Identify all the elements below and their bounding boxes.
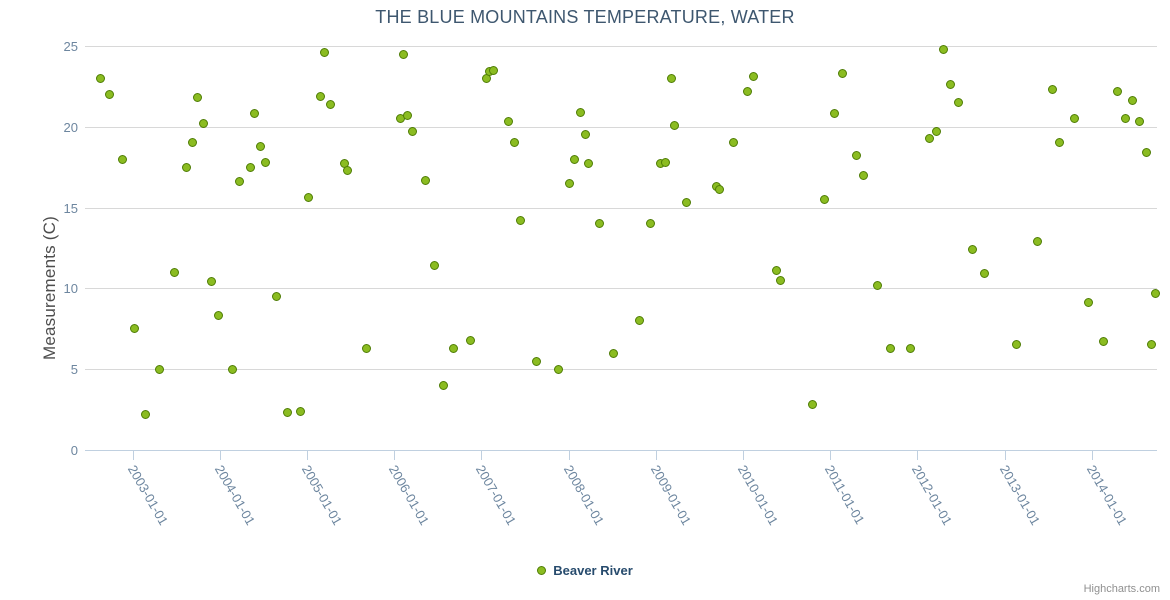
data-point[interactable] [646, 219, 655, 228]
data-point[interactable] [946, 80, 955, 89]
data-point[interactable] [954, 98, 963, 107]
data-point[interactable] [820, 195, 829, 204]
data-point[interactable] [296, 407, 305, 416]
data-point[interactable] [1128, 96, 1137, 105]
data-point[interactable] [1147, 340, 1156, 349]
data-point[interactable] [421, 176, 430, 185]
data-point[interactable] [886, 344, 895, 353]
data-point[interactable] [439, 381, 448, 390]
data-point[interactable] [155, 365, 164, 374]
x-tick-label-2008-01-01: 2008-01-01 [561, 463, 606, 527]
data-point[interactable] [1084, 298, 1093, 307]
data-point[interactable] [743, 87, 752, 96]
data-point[interactable] [1055, 138, 1064, 147]
data-point[interactable] [207, 277, 216, 286]
x-tick-label-2012-01-01: 2012-01-01 [910, 463, 955, 527]
x-tick-mark [307, 451, 308, 460]
x-tick-mark [394, 451, 395, 460]
data-point[interactable] [449, 344, 458, 353]
data-point[interactable] [1012, 340, 1021, 349]
data-point[interactable] [980, 269, 989, 278]
data-point[interactable] [118, 155, 127, 164]
x-tick-label-2005-01-01: 2005-01-01 [300, 463, 345, 527]
data-point[interactable] [228, 365, 237, 374]
data-point[interactable] [565, 179, 574, 188]
gridline-y-10 [85, 288, 1157, 289]
data-point[interactable] [576, 108, 585, 117]
data-point[interactable] [235, 177, 244, 186]
data-point[interactable] [1048, 85, 1057, 94]
data-point[interactable] [466, 336, 475, 345]
chart-title: THE BLUE MOUNTAINS TEMPERATURE, WATER [0, 7, 1170, 28]
x-tick-mark [220, 451, 221, 460]
plot-area [85, 46, 1157, 450]
data-point[interactable] [326, 100, 335, 109]
data-point[interactable] [105, 90, 114, 99]
data-point[interactable] [246, 163, 255, 172]
data-point[interactable] [272, 292, 281, 301]
data-point[interactable] [188, 138, 197, 147]
data-point[interactable] [141, 410, 150, 419]
data-point[interactable] [1033, 237, 1042, 246]
data-point[interactable] [170, 268, 179, 277]
data-point[interactable] [584, 159, 593, 168]
data-point[interactable] [682, 198, 691, 207]
data-point[interactable] [1151, 289, 1160, 298]
data-point[interactable] [182, 163, 191, 172]
chart-container: THE BLUE MOUNTAINS TEMPERATURE, WATER 05… [0, 0, 1170, 600]
data-point[interactable] [852, 151, 861, 160]
x-tick-label-2003-01-01: 2003-01-01 [125, 463, 170, 527]
data-point[interactable] [968, 245, 977, 254]
data-point[interactable] [667, 74, 676, 83]
legend-item-beaver-river[interactable]: Beaver River [537, 563, 633, 578]
data-point[interactable] [925, 134, 934, 143]
data-point[interactable] [320, 48, 329, 57]
data-point[interactable] [489, 66, 498, 75]
legend-marker-icon [537, 566, 546, 575]
data-point[interactable] [772, 266, 781, 275]
x-tick-mark [1005, 451, 1006, 460]
data-point[interactable] [749, 72, 758, 81]
data-point[interactable] [362, 344, 371, 353]
data-point[interactable] [595, 219, 604, 228]
data-point[interactable] [715, 185, 724, 194]
data-point[interactable] [581, 130, 590, 139]
x-tick-mark [917, 451, 918, 460]
y-axis-title-wrapper: Measurements (C) [20, 46, 40, 450]
data-point[interactable] [570, 155, 579, 164]
data-point[interactable] [1099, 337, 1108, 346]
data-point[interactable] [193, 93, 202, 102]
data-point[interactable] [261, 158, 270, 167]
data-point[interactable] [670, 121, 679, 130]
data-point[interactable] [1121, 114, 1130, 123]
data-point[interactable] [609, 349, 618, 358]
x-tick-mark [743, 451, 744, 460]
gridline-y-20 [85, 127, 1157, 128]
data-point[interactable] [516, 216, 525, 225]
x-axis-line [85, 450, 1157, 451]
x-tick-mark [1092, 451, 1093, 460]
data-point[interactable] [776, 276, 785, 285]
data-point[interactable] [1135, 117, 1144, 126]
data-point[interactable] [504, 117, 513, 126]
x-tick-label-2014-01-01: 2014-01-01 [1085, 463, 1130, 527]
data-point[interactable] [1113, 87, 1122, 96]
data-point[interactable] [430, 261, 439, 270]
data-point[interactable] [906, 344, 915, 353]
data-point[interactable] [130, 324, 139, 333]
data-point[interactable] [96, 74, 105, 83]
data-point[interactable] [932, 127, 941, 136]
data-point[interactable] [250, 109, 259, 118]
data-point[interactable] [532, 357, 541, 366]
data-point[interactable] [283, 408, 292, 417]
gridline-y-15 [85, 208, 1157, 209]
x-tick-mark [481, 451, 482, 460]
data-point[interactable] [343, 166, 352, 175]
x-tick-label-2013-01-01: 2013-01-01 [997, 463, 1042, 527]
data-point[interactable] [1142, 148, 1151, 157]
x-tick-label-2009-01-01: 2009-01-01 [649, 463, 694, 527]
x-tick-mark [830, 451, 831, 460]
x-tick-label-2010-01-01: 2010-01-01 [736, 463, 781, 527]
x-tick-label-2004-01-01: 2004-01-01 [213, 463, 258, 527]
data-point[interactable] [808, 400, 817, 409]
data-point[interactable] [859, 171, 868, 180]
x-tick-mark [133, 451, 134, 460]
chart-legend: Beaver River [0, 563, 1170, 578]
data-point[interactable] [214, 311, 223, 320]
gridline-y-5 [85, 369, 1157, 370]
data-point[interactable] [256, 142, 265, 151]
data-point[interactable] [510, 138, 519, 147]
data-point[interactable] [838, 69, 847, 78]
legend-label: Beaver River [553, 563, 633, 578]
data-point[interactable] [316, 92, 325, 101]
x-tick-mark [656, 451, 657, 460]
x-tick-mark [569, 451, 570, 460]
x-tick-label-2007-01-01: 2007-01-01 [474, 463, 519, 527]
data-point[interactable] [661, 158, 670, 167]
x-tick-label-2011-01-01: 2011-01-01 [823, 463, 867, 526]
data-point[interactable] [304, 193, 313, 202]
y-axis-title: Measurements (C) [40, 86, 60, 490]
gridline-y-25 [85, 46, 1157, 47]
data-point[interactable] [1070, 114, 1079, 123]
data-point[interactable] [403, 111, 412, 120]
data-point[interactable] [399, 50, 408, 59]
data-point[interactable] [554, 365, 563, 374]
data-point[interactable] [830, 109, 839, 118]
data-point[interactable] [729, 138, 738, 147]
data-point[interactable] [939, 45, 948, 54]
data-point[interactable] [408, 127, 417, 136]
x-tick-label-2006-01-01: 2006-01-01 [387, 463, 432, 527]
credits-label: Highcharts.com [1084, 583, 1160, 595]
data-point[interactable] [635, 316, 644, 325]
